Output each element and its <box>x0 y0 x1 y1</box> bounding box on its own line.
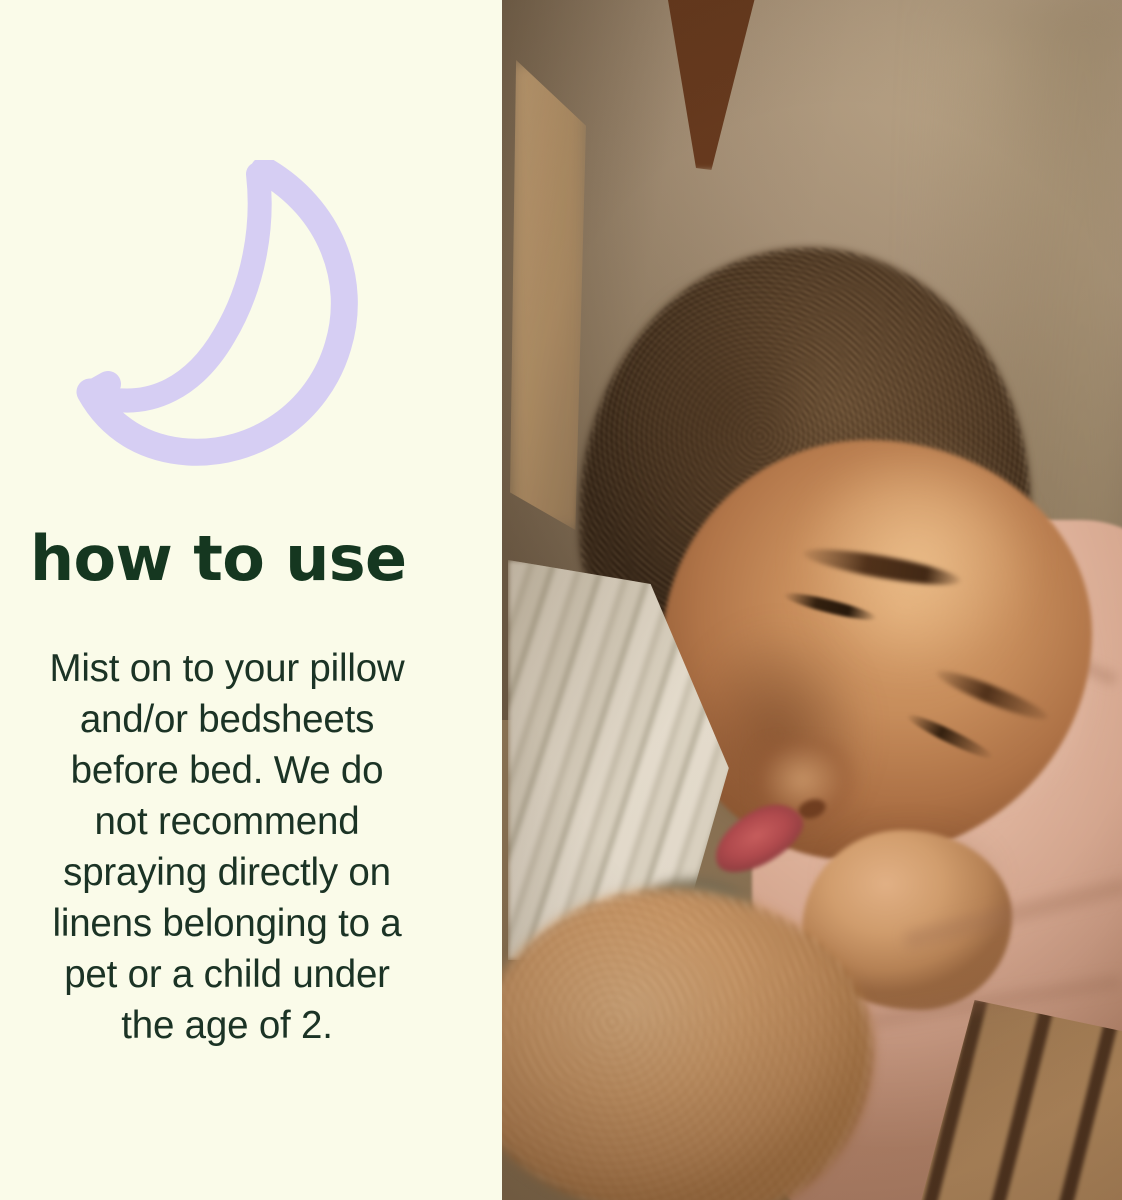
page-title: how to use <box>30 528 474 590</box>
crescent-moon-icon <box>68 160 358 470</box>
instructions-panel: how to use Mist on to your pillow and/or… <box>0 0 502 1200</box>
sleeping-child-photo <box>502 0 1122 1200</box>
how-to-use-infographic: how to use Mist on to your pillow and/or… <box>0 0 1122 1200</box>
instructions-text: Mist on to your pillow and/or bedsheets … <box>4 643 450 1051</box>
